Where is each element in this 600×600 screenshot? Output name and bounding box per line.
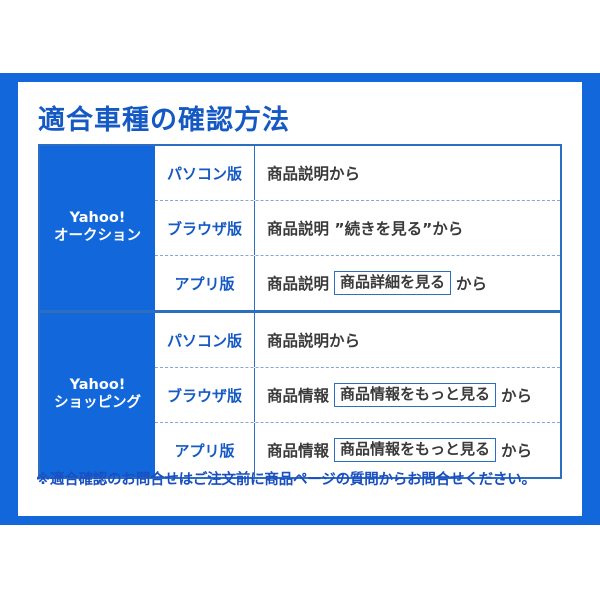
section-rows: パソコン版 商品説明から ブラウザ版 商品情報 商品情報をもっと見る から — [155, 313, 560, 477]
compatibility-check-table: Yahoo! オークション パソコン版 商品説明から ブラウザ版 — [38, 144, 562, 479]
instruction-cell: 商品説明 ”続きを見る”から — [255, 201, 560, 255]
instruction-cell: 商品説明 商品詳細を見る から — [255, 256, 560, 310]
table-section-yahoo-auction: Yahoo! オークション パソコン版 商品説明から ブラウザ版 — [40, 146, 560, 310]
footer-note: ※適合確認のお問合せはご注文前に商品ページの質問からお問合せください。 — [36, 468, 536, 489]
instruction-text-pre: 商品説明から — [267, 162, 360, 184]
section-label-brand: Yahoo! — [54, 377, 141, 395]
table-row: ブラウザ版 商品説明 ”続きを見る”から — [155, 200, 560, 255]
device-label: パソコン版 — [155, 146, 255, 200]
table-row: ブラウザ版 商品情報 商品情報をもっと見る から — [155, 367, 560, 422]
button-chip-label: 商品情報をもっと見る — [334, 438, 496, 461]
section-rows: パソコン版 商品説明から ブラウザ版 商品説明 ”続きを見る”から — [155, 146, 560, 310]
table-row: パソコン版 商品説明から — [155, 146, 560, 200]
white-content-panel: 適合車種の確認方法 Yahoo! オークション パソコン版 — [18, 82, 582, 516]
instruction-text-pre: 商品情報 — [267, 384, 329, 406]
instruction-text-pre: 商品説明 ”続きを見る”から — [267, 217, 463, 239]
section-label-brand: Yahoo! — [54, 210, 141, 228]
button-chip-label: 商品詳細を見る — [334, 271, 451, 294]
device-label: ブラウザ版 — [155, 368, 255, 422]
device-label: ブラウザ版 — [155, 201, 255, 255]
instruction-text-post: から — [456, 272, 487, 294]
section-label-kind: オークション — [54, 228, 141, 246]
instruction-text-pre: 商品情報 — [267, 439, 329, 461]
table-row: パソコン版 商品説明から — [155, 313, 560, 367]
instruction-text-post: から — [501, 384, 532, 406]
section-label-yahoo-auction: Yahoo! オークション — [40, 146, 155, 310]
instruction-cell: 商品説明から — [255, 146, 560, 200]
table-row: アプリ版 商品説明 商品詳細を見る から — [155, 255, 560, 310]
section-label-yahoo-shopping: Yahoo! ショッピング — [40, 313, 155, 477]
instruction-cell: 商品情報 商品情報をもっと見る から — [255, 368, 560, 422]
instruction-text-pre: 商品説明から — [267, 329, 360, 351]
instruction-cell: 商品説明から — [255, 313, 560, 367]
instruction-text-pre: 商品説明 — [267, 272, 329, 294]
device-label: パソコン版 — [155, 313, 255, 367]
page-title: 適合車種の確認方法 — [38, 98, 290, 137]
table-section-yahoo-shopping: Yahoo! ショッピング パソコン版 商品説明から ブラウザ版 — [40, 310, 560, 477]
infographic-root: 適合車種の確認方法 Yahoo! オークション パソコン版 — [0, 0, 600, 600]
instruction-text-post: から — [501, 439, 532, 461]
button-chip-label: 商品情報をもっと見る — [334, 383, 496, 406]
device-label: アプリ版 — [155, 256, 255, 310]
section-label-kind: ショッピング — [54, 395, 141, 413]
